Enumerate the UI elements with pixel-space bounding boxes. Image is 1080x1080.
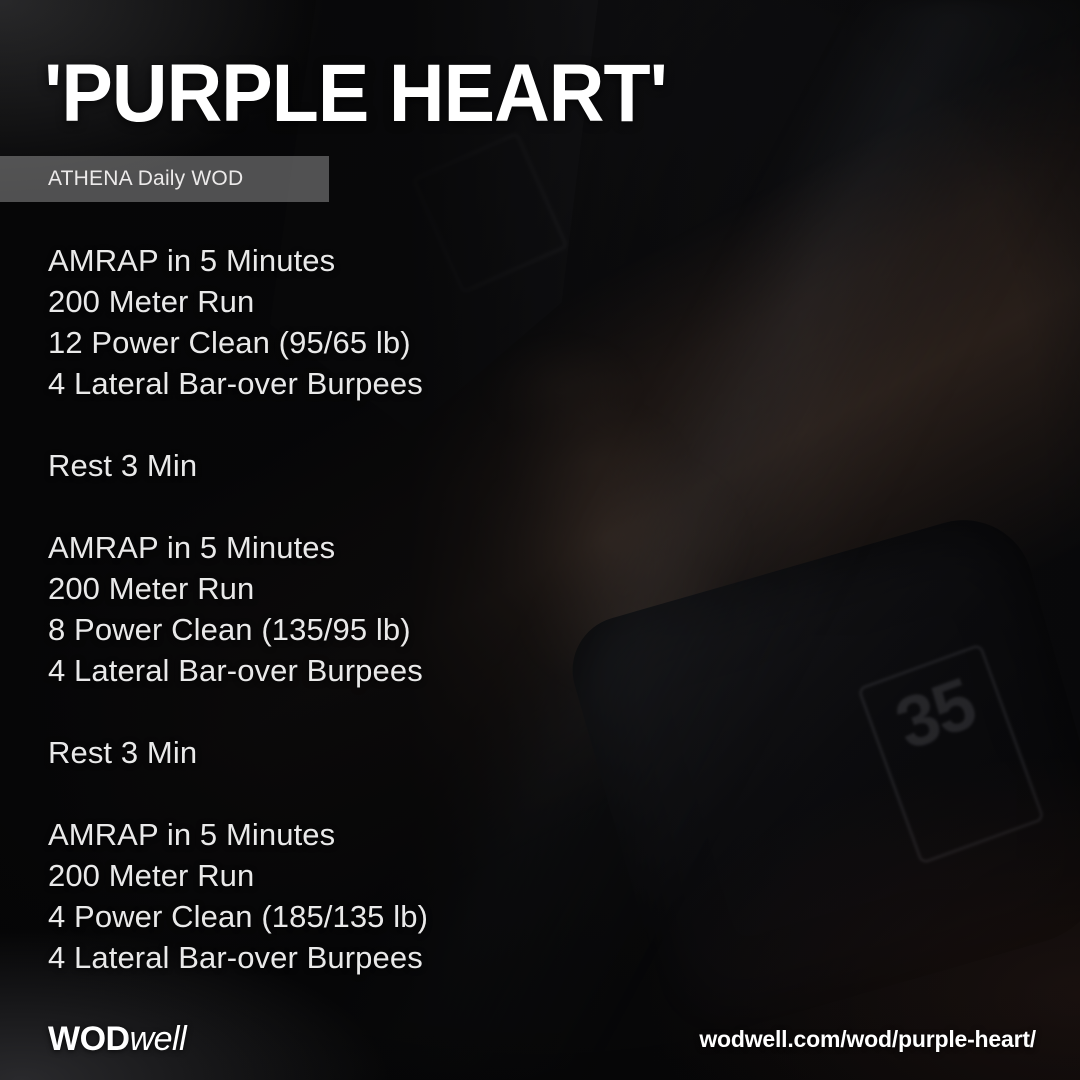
wod-permalink-url[interactable]: wodwell.com/wod/purple-heart/ — [699, 1026, 1036, 1052]
wod-line: AMRAP in 5 Minutes — [48, 240, 808, 281]
wod-line: 8 Power Clean (135/95 lb) — [48, 609, 808, 650]
wod-line: 200 Meter Run — [48, 855, 808, 896]
card-content: 'PURPLE HEART' ATHENA Daily WOD AMRAP in… — [0, 0, 1080, 1080]
wod-block: AMRAP in 5 Minutes200 Meter Run4 Power C… — [48, 814, 808, 978]
wod-line: 200 Meter Run — [48, 281, 808, 322]
wodwell-logo-well: well — [130, 1020, 187, 1058]
wod-subtitle-badge: ATHENA Daily WOD — [0, 156, 329, 202]
wod-line: 4 Lateral Bar-over Burpees — [48, 650, 808, 691]
wod-workout-body: AMRAP in 5 Minutes200 Meter Run12 Power … — [48, 240, 808, 978]
wod-line: Rest 3 Min — [48, 445, 808, 486]
wod-line: 200 Meter Run — [48, 568, 808, 609]
wod-line: 4 Lateral Bar-over Burpees — [48, 363, 808, 404]
wodwell-logo-wod: WOD — [48, 1020, 130, 1058]
wod-line: AMRAP in 5 Minutes — [48, 527, 808, 568]
wod-block: Rest 3 Min — [48, 445, 808, 486]
wod-block: Rest 3 Min — [48, 732, 808, 773]
wod-line: Rest 3 Min — [48, 732, 808, 773]
wod-line: 4 Power Clean (185/135 lb) — [48, 896, 808, 937]
wod-block: AMRAP in 5 Minutes200 Meter Run12 Power … — [48, 240, 808, 404]
wod-title: 'PURPLE HEART' — [44, 50, 667, 138]
wod-line: 12 Power Clean (95/65 lb) — [48, 322, 808, 363]
wod-card: 35 'PURPLE HEART' ATHENA Daily WOD AMRAP… — [0, 0, 1080, 1080]
wod-block: AMRAP in 5 Minutes200 Meter Run8 Power C… — [48, 527, 808, 691]
wodwell-logo[interactable]: WODwell — [48, 1020, 186, 1058]
wod-line: 4 Lateral Bar-over Burpees — [48, 937, 808, 978]
wod-subtitle-label: ATHENA Daily WOD — [48, 167, 243, 191]
wod-line: AMRAP in 5 Minutes — [48, 814, 808, 855]
